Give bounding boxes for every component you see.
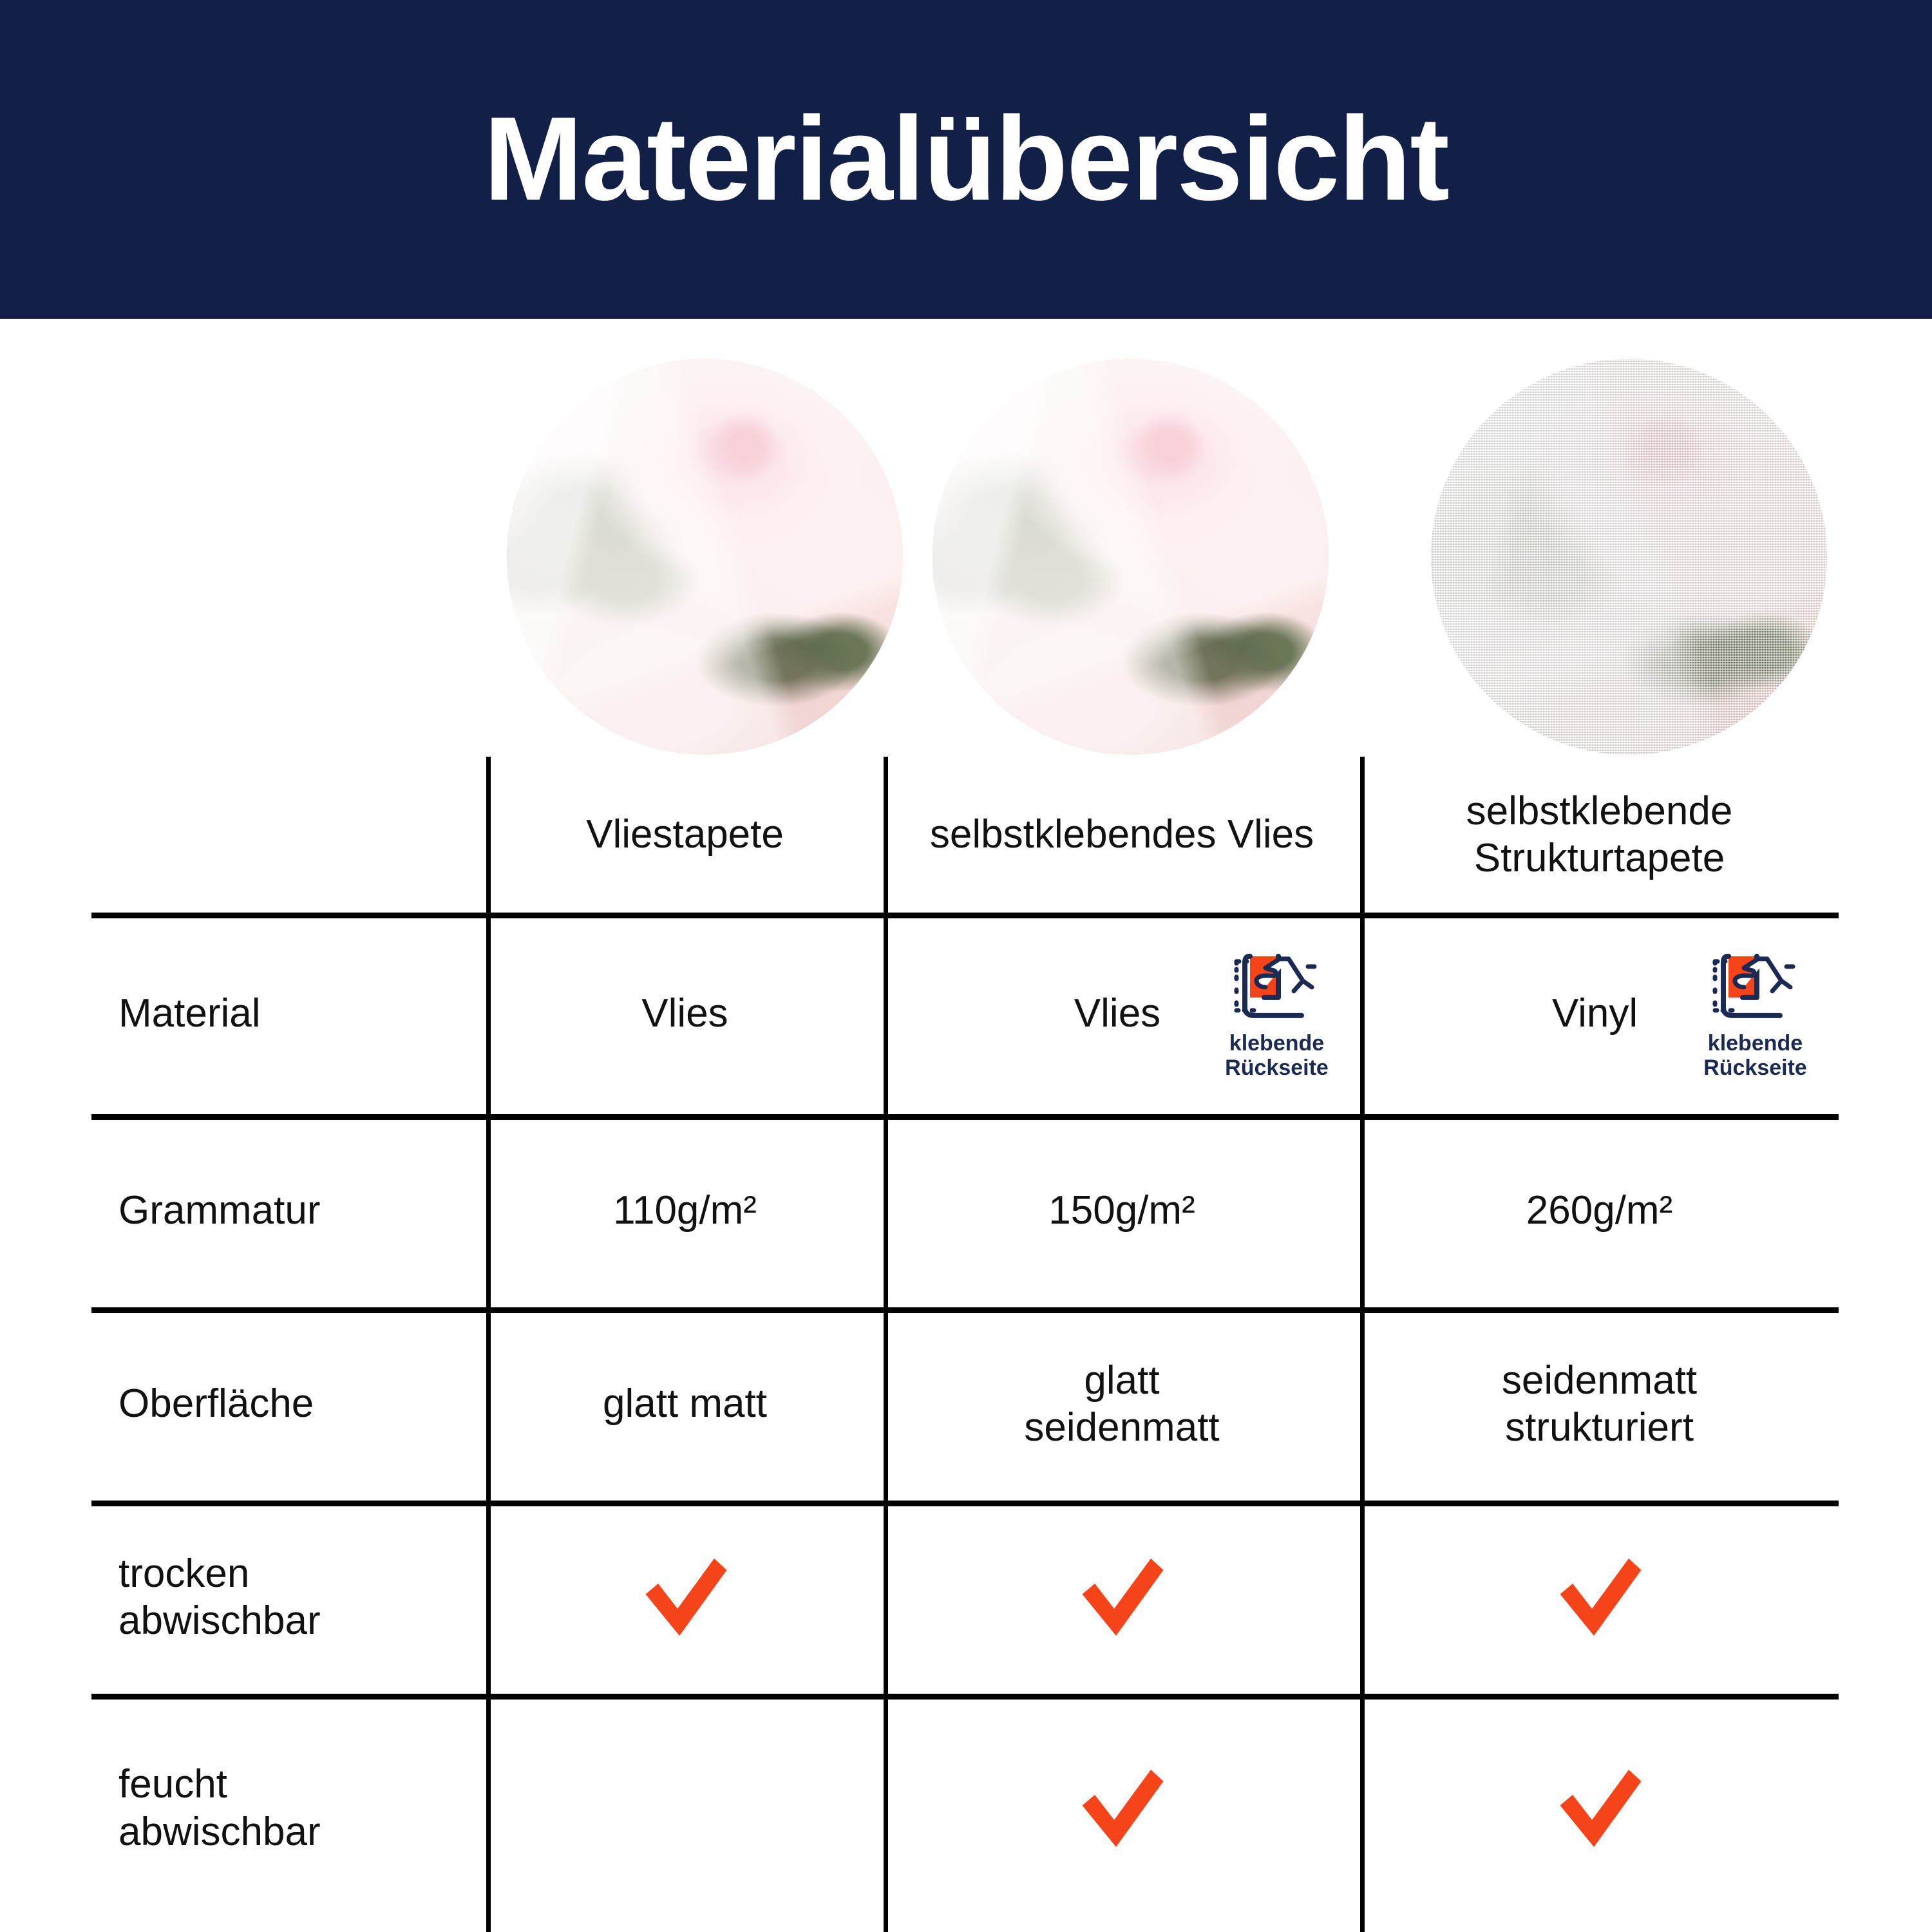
table-divider-2 [884, 757, 888, 1932]
cell-feucht-selbstklebende-strukturtapete [1360, 1694, 1839, 1922]
badge-label: klebende Rückseite [1225, 1030, 1329, 1079]
table-rule-trocken [91, 1694, 1839, 1700]
check-icon [1074, 1760, 1170, 1857]
column-header-vliestapete: Vliestapete [486, 757, 884, 913]
cell-trocken-selbstklebende-strukturtapete [1360, 1501, 1839, 1694]
check-icon [637, 1549, 734, 1645]
cell-value: Vinyl [1552, 990, 1638, 1037]
cell-oberflaeche-vliestapete: glatt matt [486, 1307, 884, 1501]
table-rule-grammatur [91, 1307, 1839, 1313]
row-label-material: Material [91, 913, 486, 1114]
column-header-selbstklebendes-vlies: selbstklebendes Vlies [884, 757, 1360, 913]
cell-grammatur-selbstklebendes-vlies: 150g/m² [884, 1114, 1360, 1307]
cell-value: Vlies [1074, 990, 1160, 1037]
cell-trocken-vliestapete [486, 1501, 884, 1694]
structure-texture-overlay [1431, 359, 1827, 755]
cell-oberflaeche-selbstklebendes-vlies: glatt seidenmatt [884, 1307, 1360, 1501]
row-label-trocken-abwischbar: trocken abwischbar [91, 1501, 486, 1694]
page-header: Materialübersicht [0, 0, 1932, 319]
table-rule-header [91, 913, 1839, 918]
row-label-feucht-abwischbar: feucht abwischbar [91, 1694, 486, 1922]
check-icon [1551, 1549, 1648, 1645]
check-icon [1074, 1549, 1170, 1645]
table-rule-material [91, 1114, 1839, 1120]
swatch-selbstklebendes-vlies [933, 359, 1329, 755]
page-title: Materialübersicht [484, 100, 1448, 219]
cell-grammatur-vliestapete: 110g/m² [486, 1114, 884, 1307]
klebende-rueckseite-badge: klebende Rückseite [1686, 947, 1824, 1079]
cell-material-selbstklebendes-vlies: Vlies klebende Rückseite [884, 913, 1360, 1114]
rose-image [933, 359, 1329, 755]
cell-material-selbstklebende-strukturtapete: Vinyl klebende Rückseite [1360, 913, 1839, 1114]
badge-label: klebende Rückseite [1703, 1030, 1807, 1079]
cell-oberflaeche-selbstklebende-strukturtapete: seidenmatt strukturiert [1360, 1307, 1839, 1501]
swatch-vliestapete [507, 359, 903, 755]
table-corner-cell [91, 757, 486, 913]
cell-feucht-selbstklebendes-vlies [884, 1694, 1360, 1922]
check-icon [1551, 1760, 1648, 1857]
cell-feucht-vliestapete [486, 1694, 884, 1922]
cell-trocken-selbstklebendes-vlies [884, 1501, 1360, 1694]
rose-image [507, 359, 903, 755]
material-comparison-table: Vliestapete selbstklebendes Vlies selbst… [91, 757, 1839, 1932]
cell-material-vliestapete: Vlies [486, 913, 884, 1114]
row-label-grammatur: Grammatur [91, 1114, 486, 1307]
swatch-strip [0, 319, 1932, 757]
table-rule-oberflaeche [91, 1501, 1839, 1506]
klebende-rueckseite-badge: klebende Rückseite [1207, 947, 1346, 1079]
peel-sticker-icon [1225, 947, 1329, 1025]
cell-grammatur-selbstklebende-strukturtapete: 260g/m² [1360, 1114, 1839, 1307]
swatch-selbstklebende-strukturtapete [1431, 359, 1827, 755]
peel-sticker-icon [1703, 947, 1808, 1025]
table-divider-3 [1360, 757, 1365, 1932]
column-header-selbstklebende-strukturtapete: selbstklebende Strukturtapete [1360, 757, 1839, 913]
row-label-oberflaeche: Oberfläche [91, 1307, 486, 1501]
table-divider-1 [486, 757, 491, 1932]
